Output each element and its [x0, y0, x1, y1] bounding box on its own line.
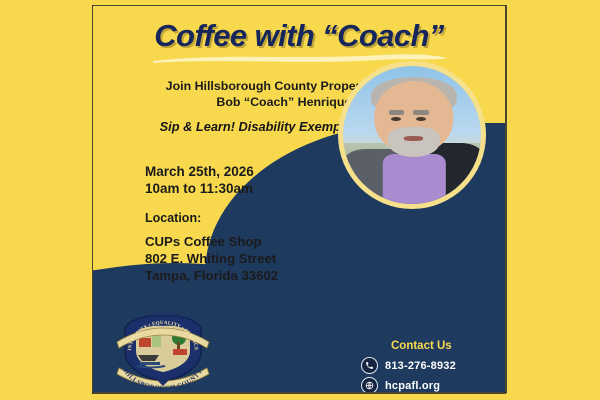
phone-icon [361, 357, 378, 374]
contact-website-row[interactable]: hcpafl.org [361, 377, 456, 392]
portrait-mouth [404, 136, 423, 140]
frame-border-right [505, 5, 507, 393]
globe-icon [361, 377, 378, 392]
contact-block: Contact Us 813-276-8932 hcpafl.org [361, 340, 456, 392]
title-block: Coffee with “Coach” [93, 18, 505, 54]
frame-border-bottom [92, 392, 506, 394]
venue-city-zip: Tampa, Florida 33602 [145, 267, 278, 284]
contact-phone-row[interactable]: 813-276-8932 [361, 357, 456, 374]
venue-street: 802 E. Whiting Street [145, 250, 278, 267]
portrait-brow-right [413, 110, 428, 115]
flyer-canvas: Coffee with “Coach” Join Hillsborough Co… [93, 6, 505, 392]
portrait-brow-left [389, 110, 404, 115]
county-seal-logo: PROPERTY APPRAISER INTEGRITY • EQUALITY … [111, 308, 215, 388]
contact-website: hcpafl.org [385, 380, 440, 392]
contact-heading: Contact Us [391, 340, 456, 352]
venue-name: CUPs Coffee Shop [145, 233, 278, 250]
portrait-shirt [383, 154, 446, 204]
event-time-line: 10am to 11:30am [145, 180, 278, 197]
location-label: Location: [145, 211, 278, 225]
event-details: March 25th, 2026 10am to 11:30am Locatio… [145, 163, 278, 284]
portrait-photo [343, 66, 481, 204]
contact-phone-number: 813-276-8932 [385, 360, 456, 372]
avatar [338, 61, 486, 209]
event-flyer: Coffee with “Coach” Join Hillsborough Co… [0, 0, 600, 400]
page-title: Coffee with “Coach” [93, 18, 505, 54]
event-date-line: March 25th, 2026 [145, 163, 278, 180]
